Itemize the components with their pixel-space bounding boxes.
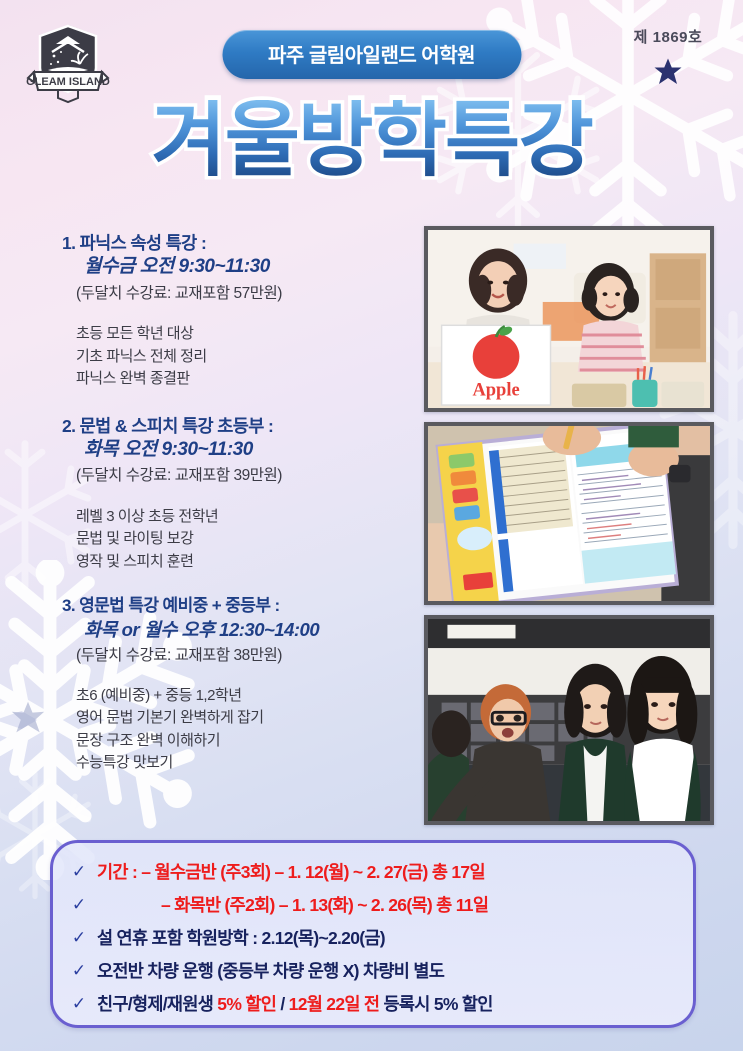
issue-number: 제 1869호 (613, 26, 723, 47)
notice-row: ✓ 기간 : – 월수금반 (주3회) – 1. 12(월) ~ 2. 27(금… (71, 855, 679, 888)
academy-logo: GLEAM ISLAND (18, 20, 118, 106)
course-price: (두달치 수강료: 교재포함 57만원) (76, 282, 412, 305)
course-detail-line: 레벨 3 이상 초등 전학년 (76, 506, 412, 529)
course-detail-line: 영어 문법 기본기 완벽하게 잡기 (76, 707, 412, 730)
course-item: 1. 파닉스 속성 특강 : 월수금 오전 9:30~11:30 (두달치 수강… (62, 232, 412, 391)
course-time: 화목 오전 9:30~11:30 (84, 438, 412, 463)
photo-column: Apple (424, 226, 714, 835)
course-price: (두달치 수강료: 교재포함 38만원) (76, 644, 412, 667)
course-item: 2. 문법 & 스피치 특강 초등부 : 화목 오전 9:30~11:30 (두… (62, 415, 412, 574)
course-detail-line: 문장 구조 완벽 이해하기 (76, 730, 412, 753)
classroom-photo: Apple (424, 226, 714, 412)
academy-name-pill[interactable]: 파주 글림아일랜드 어학원 (222, 30, 521, 79)
issue-number-block: 제 1869호 (613, 26, 723, 87)
course-time: 화목 or 월수 오후 12:30~14:00 (84, 618, 412, 642)
course-heading: 1. 파닉스 속성 특강 : (62, 232, 412, 255)
notice-row: ✓ 오전반 차량 운행 (중등부 차량 운행 X) 차량비 별도 (71, 954, 679, 987)
notice-segment: 친구/형제/재원생 (97, 994, 217, 1014)
class-group-photo (424, 615, 714, 825)
notice-text: 설 연휴 포함 학원방학 : 2.12(목)~2.20(금) (97, 925, 385, 950)
apple-card-text: Apple (472, 379, 519, 399)
course-detail-line: 초6 (예비중) + 중등 1,2학년 (76, 685, 412, 708)
course-details: 초6 (예비중) + 중등 1,2학년 영어 문법 기본기 완벽하게 잡기 문장… (76, 685, 412, 775)
course-details: 초등 모든 학년 대상 기초 파닉스 전체 정리 파닉스 완벽 종결판 (76, 323, 412, 391)
check-icon: ✓ (71, 929, 87, 946)
page-title: 겨울방학특강 겨울방학특강 (0, 100, 743, 182)
notice-segment: 등록시 5% 할인 (379, 994, 492, 1014)
check-icon: ✓ (71, 995, 87, 1012)
course-detail-line: 수능특강 맛보기 (76, 752, 412, 775)
notice-text: 오전반 차량 운행 (중등부 차량 운행 X) 차량비 별도 (97, 958, 444, 983)
star-icon (10, 700, 46, 736)
notice-row: ✓ 설 연휴 포함 학원방학 : 2.12(목)~2.20(금) (71, 921, 679, 954)
course-heading: 2. 문법 & 스피치 특강 초등부 : (62, 415, 412, 438)
notice-text-mixed: 친구/형제/재원생 5% 할인 / 12월 22일 전 등록시 5% 할인 (97, 991, 493, 1016)
course-detail-line: 기초 파닉스 전체 정리 (76, 346, 412, 369)
notice-box: ✓ 기간 : – 월수금반 (주3회) – 1. 12(월) ~ 2. 27(금… (50, 840, 696, 1028)
course-detail-line: 파닉스 완벽 종결판 (76, 368, 412, 391)
course-price: (두달치 수강료: 교재포함 39만원) (76, 464, 412, 487)
notice-segment-highlight: 12월 22일 전 (289, 994, 380, 1014)
notice-text: – 화목반 (주2회) – 1. 13(화) ~ 2. 26(목) 총 11일 (161, 892, 488, 917)
course-time: 월수금 오전 9:30~11:30 (84, 255, 412, 280)
check-icon: ✓ (71, 962, 87, 979)
course-detail-line: 문법 및 라이팅 보강 (76, 528, 412, 551)
notice-text: 기간 : – 월수금반 (주3회) – 1. 12(월) ~ 2. 27(금) … (97, 859, 485, 884)
course-detail-line: 초등 모든 학년 대상 (76, 323, 412, 346)
course-list: 1. 파닉스 속성 특강 : 월수금 오전 9:30~11:30 (두달치 수강… (62, 232, 412, 793)
page-title-text: 겨울방학특강 (0, 100, 743, 182)
check-icon: ✓ (71, 896, 87, 913)
course-details: 레벨 3 이상 초등 전학년 문법 및 라이팅 보강 영작 및 스피치 훈련 (76, 506, 412, 574)
workbook-photo (424, 422, 714, 605)
star-icon (653, 57, 683, 87)
notice-row: ✓ 친구/형제/재원생 5% 할인 / 12월 22일 전 등록시 5% 할인 (71, 987, 679, 1020)
check-icon: ✓ (71, 863, 87, 880)
notice-segment-highlight: 5% 할인 (217, 994, 276, 1014)
winter-camp-flyer: GLEAM ISLAND 제 1869호 파주 글림아일랜드 어학원 겨울방학특… (0, 0, 743, 1051)
logo-text: GLEAM ISLAND (26, 76, 110, 88)
course-detail-line: 영작 및 스피치 훈련 (76, 551, 412, 574)
notice-row: ✓ – 화목반 (주2회) – 1. 13(화) ~ 2. 26(목) 총 11… (71, 888, 679, 921)
course-heading: 3. 영문법 특강 예비중 + 중등부 : (62, 595, 412, 617)
course-item: 3. 영문법 특강 예비중 + 중등부 : 화목 or 월수 오후 12:30~… (62, 595, 412, 775)
notice-segment: / (276, 994, 289, 1014)
